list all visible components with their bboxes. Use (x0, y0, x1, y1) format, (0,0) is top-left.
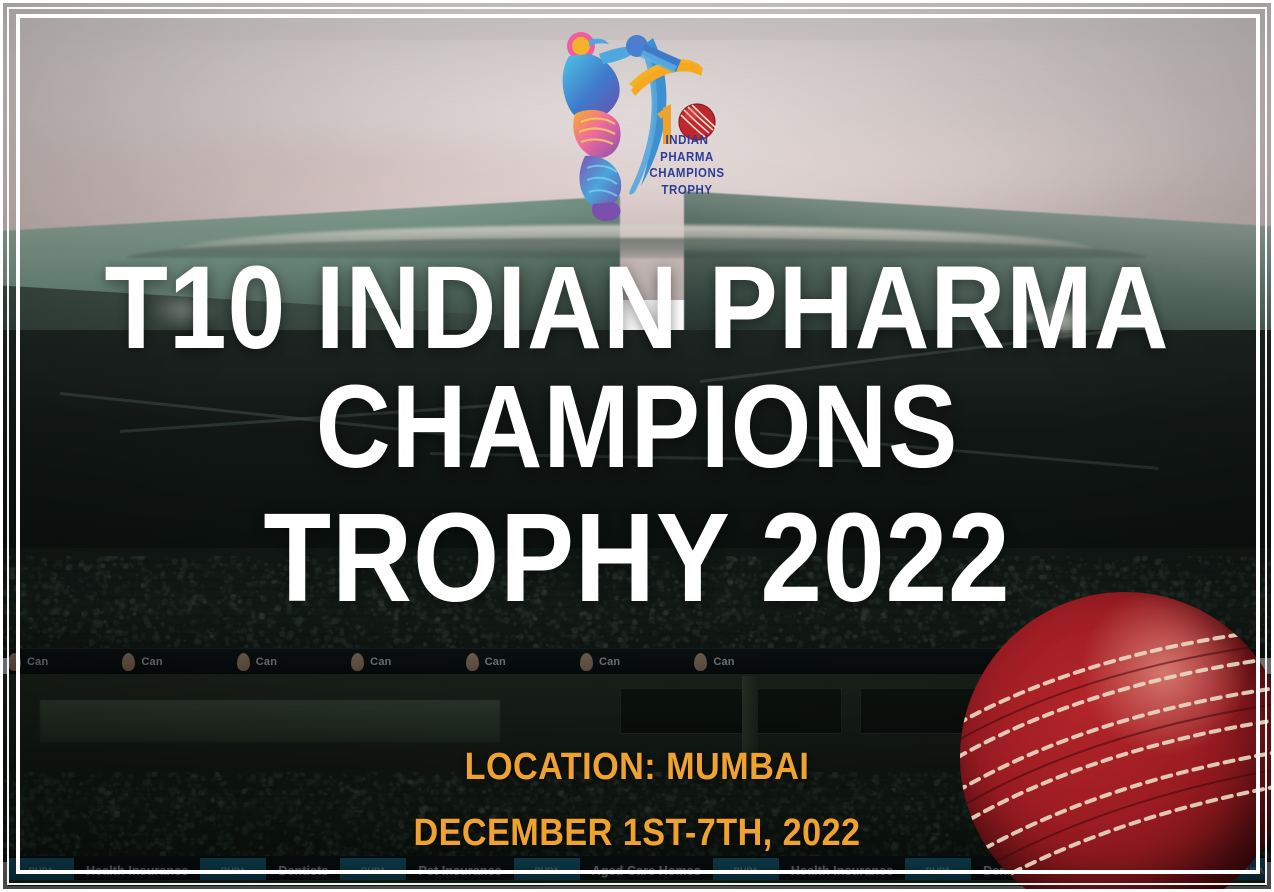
can-logo-icon (237, 653, 250, 671)
can-logo-icon (466, 653, 479, 671)
poster-canvas: CanCanCanCanCanCanCan BUPAHealth Insuran… (0, 0, 1274, 892)
can-logo-label: Can (599, 656, 620, 668)
can-logo-label: Can (256, 656, 277, 668)
can-logo-label: Can (141, 656, 162, 668)
logo-word-trophy: TROPHY (645, 182, 730, 199)
title-line-1: T10 INDIAN PHARMA (76, 252, 1197, 364)
event-dates: DECEMBER 1ST-7TH, 2022 (64, 812, 1211, 855)
title-line-3: TROPHY 2022 (76, 490, 1197, 626)
event-location: LOCATION: MUMBAI (64, 746, 1211, 789)
sponsor-ad-text: Pet Insurance (406, 864, 513, 878)
sponsor-can-item: Can (466, 653, 506, 671)
can-logo-label: Can (485, 656, 506, 668)
sponsor-can-item: Can (694, 653, 734, 671)
corporate-box (620, 688, 842, 734)
can-logo-label: Can (27, 656, 48, 668)
sponsor-ad-text: Health Insurance (74, 864, 200, 878)
sponsor-can-item: Can (237, 653, 277, 671)
can-logo-label: Can (713, 656, 734, 668)
logo-word-pharma: PHARMA (645, 149, 730, 166)
title-line-2: CHAMPIONS (76, 364, 1197, 490)
logo-wordmark: INDIAN PHARMA CHAMPIONS TROPHY (645, 132, 730, 198)
sponsor-ad-text: Health Insurance (779, 864, 905, 878)
sponsor-can-item: Can (8, 653, 48, 671)
logo-word-champions: CHAMPIONS (645, 165, 730, 182)
tournament-logo: INDIAN PHARMA CHAMPIONS TROPHY (545, 10, 735, 225)
logo-word-indian: INDIAN (645, 132, 730, 149)
sponsor-ad-text: Aged Care Homes (580, 864, 713, 878)
can-logo-icon (694, 653, 707, 671)
sponsor-can-item: Can (122, 653, 162, 671)
stand-wall (40, 700, 500, 742)
sponsor-ad-text: Dentists (266, 864, 340, 878)
can-logo-icon (351, 653, 364, 671)
can-logo-icon (580, 653, 593, 671)
sponsor-can-item: Can (351, 653, 391, 671)
can-logo-label: Can (370, 656, 391, 668)
can-logo-icon (8, 653, 21, 671)
page-title: T10 INDIAN PHARMA CHAMPIONS TROPHY 2022 (0, 252, 1274, 626)
sponsor-can-item: Can (580, 653, 620, 671)
can-logo-icon (122, 653, 135, 671)
